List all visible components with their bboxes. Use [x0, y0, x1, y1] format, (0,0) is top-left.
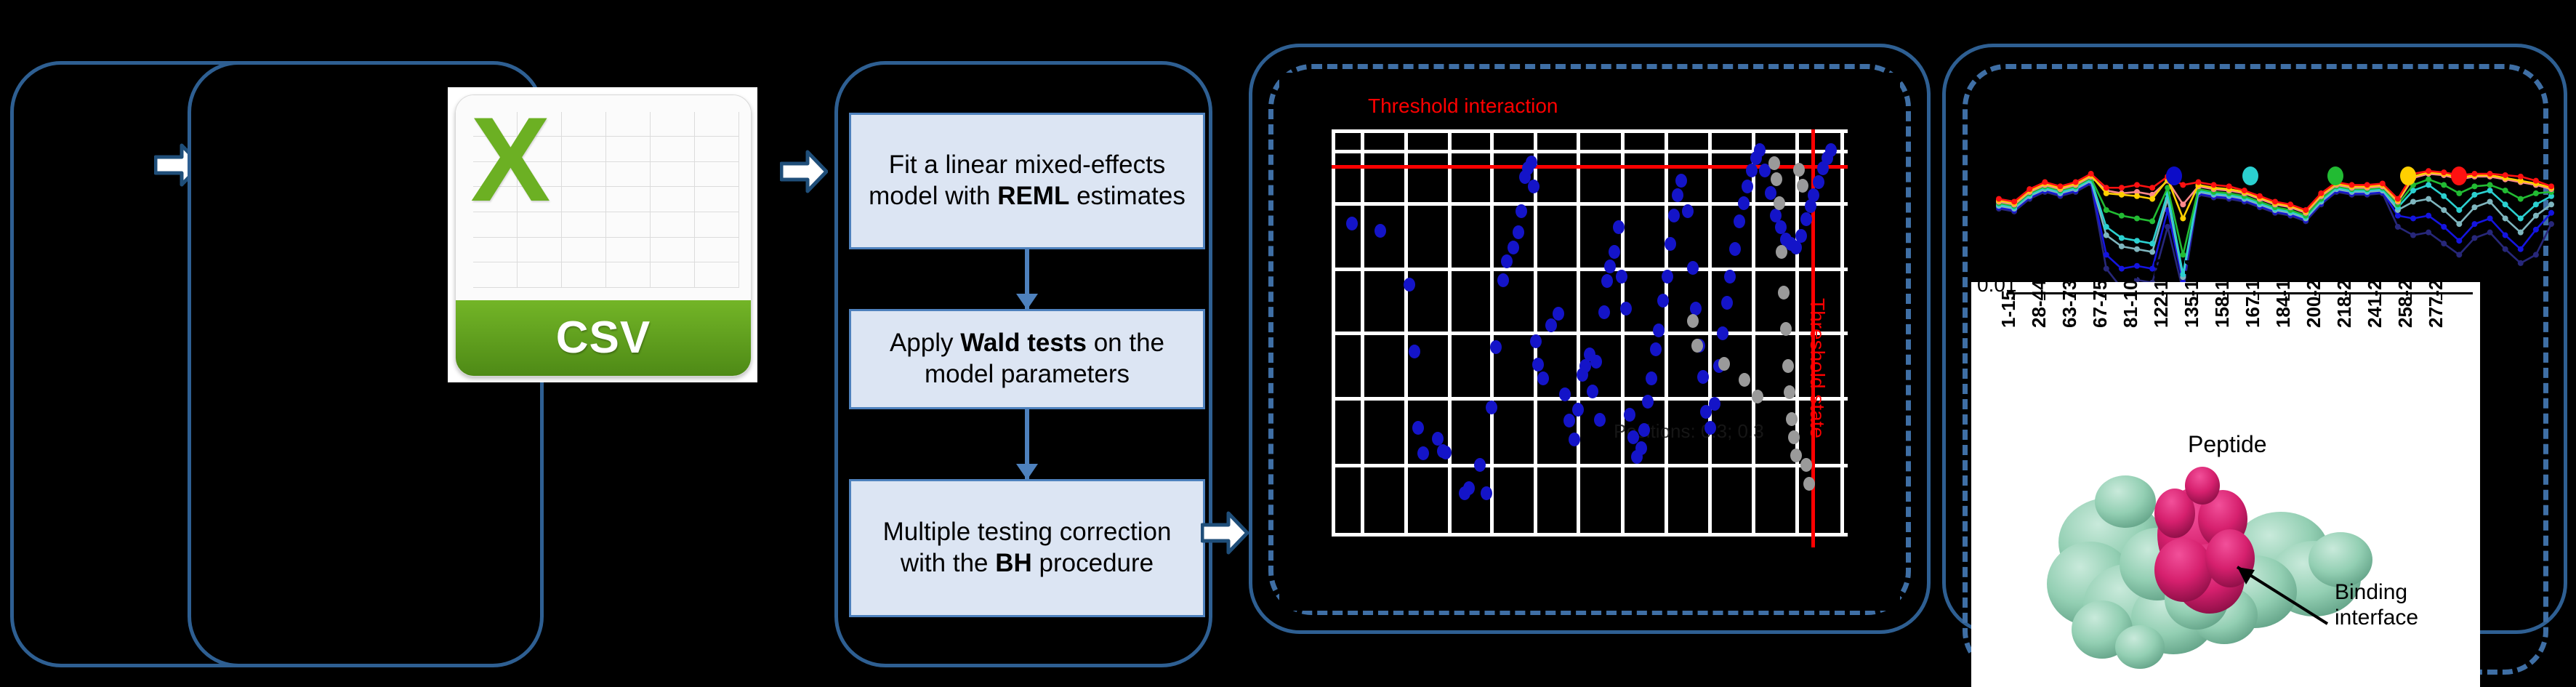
uptake-marker [2119, 213, 2125, 219]
uptake-marker [2119, 192, 2125, 198]
uptake-marker [2104, 266, 2109, 272]
uptake-marker [2503, 188, 2508, 193]
uptake-marker [2548, 210, 2554, 216]
volcano-point [1790, 241, 1802, 254]
x-axis-tick-layer: 1-1528-4463-7367-7581-101122-129135-1441… [1971, 282, 2480, 427]
uptake-marker [2441, 193, 2447, 199]
volcano-point [1613, 220, 1625, 234]
uptake-marker [2533, 201, 2539, 207]
volcano-point [1481, 486, 1492, 500]
uptake-marker [2011, 198, 2017, 204]
uptake-marker [2026, 186, 2032, 192]
binding-interface-line1: Binding [2335, 580, 2407, 604]
uptake-marker [2548, 221, 2554, 227]
uptake-marker [2487, 182, 2493, 188]
volcano-point [1346, 217, 1358, 230]
volcano-point [1825, 143, 1837, 157]
uptake-marker [2456, 238, 2462, 244]
volcano-point [1642, 395, 1654, 409]
x-axis-tick-label: 258-266 [2394, 259, 2417, 328]
uptake-marker [2487, 188, 2493, 193]
uptake-marker [2471, 204, 2477, 210]
volcano-point [1530, 334, 1542, 348]
uptake-marker [2057, 183, 2063, 189]
volcano-point [1624, 408, 1635, 422]
uptake-marker [2104, 190, 2109, 196]
uptake-marker [2349, 182, 2355, 188]
volcano-point [1590, 355, 1602, 369]
uptake-marker [2395, 196, 2401, 202]
uptake-marker [2487, 171, 2493, 177]
uptake-marker [2226, 183, 2232, 189]
uptake-marker [2318, 190, 2324, 196]
uptake-marker [2441, 169, 2447, 175]
volcano-point [1738, 196, 1750, 210]
csv-spreadsheet-surface: X [456, 95, 751, 300]
step-bh-text: Multiple testing correctionwith the BH p… [883, 517, 1172, 579]
uptake-marker [2456, 221, 2462, 227]
uptake-marker [2287, 201, 2293, 207]
uptake-marker [2134, 182, 2140, 188]
volcano-point [1691, 339, 1703, 353]
uptake-marker [2149, 196, 2155, 202]
uptake-marker [2503, 215, 2508, 221]
volcano-point [1687, 261, 1699, 275]
volcano-point [1765, 186, 1776, 200]
volcano-point [1682, 204, 1694, 218]
uptake-marker [2104, 252, 2109, 257]
uptake-marker [2471, 235, 2477, 241]
csv-file-icon: X CSV [448, 87, 757, 382]
uptake-marker [2195, 180, 2201, 185]
uptake-marker [2073, 180, 2079, 185]
uptake-marker [2380, 180, 2386, 186]
binding-interface-line2: interface [2335, 606, 2418, 630]
volcano-point [1513, 225, 1524, 239]
uptake-marker [2242, 188, 2247, 193]
arrow-stats-to-volcano [1201, 510, 1249, 555]
uptake-marker [2487, 215, 2493, 221]
step-model-text: Fit a linear mixed-effects model with RE… [857, 150, 1197, 212]
volcano-point [1734, 214, 1745, 228]
arrow-csv-to-stats [780, 149, 828, 194]
volcano-point [1528, 180, 1539, 193]
volcano-point [1771, 172, 1782, 186]
uptake-marker [2134, 238, 2140, 244]
uptake-marker [2533, 213, 2539, 219]
uptake-marker [2441, 207, 2447, 213]
uptake-marker [2272, 198, 2278, 204]
volcano-point [1672, 188, 1683, 202]
uptake-marker [2104, 207, 2109, 213]
uptake-marker [2533, 178, 2539, 184]
volcano-plot-area: Positions: 0.3; 0.3 [1332, 129, 1848, 537]
volcano-point [1797, 179, 1808, 193]
volcano-point [1440, 446, 1452, 459]
uptake-marker [2441, 224, 2447, 230]
uptake-marker [2149, 241, 2155, 246]
uptake-marker [2503, 246, 2508, 252]
volcano-point [1665, 237, 1676, 251]
peptide-axis-card: 0.01 1-1528-4463-7367-7581-101122-129135… [1971, 282, 2480, 687]
volcano-point [1594, 413, 1606, 427]
volcano-point [1803, 477, 1815, 491]
uptake-marker [2303, 207, 2309, 213]
volcano-point [1717, 326, 1728, 340]
x-axis-tick-label: 63-73 [2058, 280, 2081, 329]
volcano-point [1788, 430, 1800, 444]
volcano-point [1609, 245, 1620, 259]
uptake-marker [2149, 249, 2155, 255]
volcano-point [1668, 209, 1680, 222]
volcano-plot: Threshold interaction Positions: 0.3; 0.… [1279, 73, 1900, 611]
volcano-point [1709, 397, 1720, 411]
uptake-marker [2426, 182, 2431, 188]
x-axis-tick-label: 184-199 [2272, 259, 2295, 328]
volcano-point [1800, 458, 1812, 472]
uptake-marker [2548, 201, 2554, 207]
x-axis-tick-label: 277-284 [2425, 259, 2447, 328]
volcano-point [1778, 286, 1790, 300]
volcano-point [1620, 302, 1632, 316]
uptake-marker [2134, 246, 2140, 252]
uptake-marker [2134, 263, 2140, 269]
volcano-point [1432, 432, 1444, 446]
volcano-point [1650, 342, 1662, 356]
uptake-marker [2180, 252, 2186, 257]
volcano-point [1598, 305, 1610, 319]
uptake-marker [2518, 260, 2524, 266]
x-axis-tick-label: 218-237 [2333, 259, 2356, 328]
threshold-interaction-label: Threshold interaction [1368, 95, 1558, 118]
x-axis-tick-label: 158-166 [2211, 259, 2234, 328]
volcano-point [1704, 421, 1716, 435]
uptake-marker [2456, 252, 2462, 257]
uptake-marker [2503, 172, 2508, 178]
volcano-point [1490, 340, 1502, 354]
volcano-point [1553, 307, 1564, 321]
uptake-marker [2426, 213, 2431, 219]
legend-dot-2 [2242, 166, 2258, 185]
uptake-marker [2503, 233, 2508, 238]
volcano-point [1653, 324, 1665, 337]
uptake-marker [2441, 182, 2447, 188]
csv-icon-body: X CSV [455, 95, 752, 377]
csv-x-glyph: X [470, 100, 550, 220]
volcano-point [1780, 322, 1792, 336]
uptake-marker [2395, 213, 2401, 219]
legend-dot-3 [2327, 166, 2343, 185]
x-axis-tick-label: 122-129 [2150, 259, 2173, 328]
uptake-marker [2471, 192, 2477, 198]
volcano-point [1601, 274, 1613, 288]
volcano-point [1768, 156, 1780, 170]
uptake-marker [2149, 185, 2155, 190]
volcano-point [1516, 204, 1527, 218]
volcano-point [1463, 481, 1475, 495]
uptake-marker [2518, 196, 2524, 202]
volcano-point [1776, 245, 1787, 259]
uptake-marker [2211, 182, 2217, 188]
volcano-point [1790, 449, 1802, 462]
volcano-point [1754, 143, 1766, 157]
volcano-point [1808, 188, 1819, 202]
step-box-bh: Multiple testing correctionwith the BH p… [849, 479, 1205, 617]
step-connector-1 [1025, 249, 1029, 309]
volcano-point [1752, 390, 1763, 403]
uptake-marker [2257, 193, 2263, 199]
uptake-marker [2471, 183, 2477, 189]
volcano-point [1474, 458, 1486, 472]
uptake-marker [1996, 196, 2002, 202]
uptake-marker [2410, 198, 2416, 204]
step-box-model: Fit a linear mixed-effects model with RE… [849, 113, 1205, 249]
volcano-point [1813, 175, 1824, 189]
uptake-marker [2548, 183, 2554, 189]
volcano-point [1739, 373, 1750, 387]
uptake-marker [2487, 198, 2493, 204]
volcano-point [1697, 370, 1709, 384]
x-axis-tick-label: 81-101 [2120, 269, 2142, 328]
legend-dot-5 [2451, 166, 2467, 185]
volcano-point [1501, 254, 1513, 268]
volcano-point [1718, 357, 1730, 371]
x-axis-tick-label: 241-257 [2364, 259, 2386, 328]
uptake-marker [2487, 230, 2493, 236]
uptake-marker [2518, 215, 2524, 221]
volcano-point [1662, 270, 1673, 284]
volcano-point [1657, 294, 1669, 308]
uptake-marker [2426, 196, 2431, 202]
volcano-point [1409, 345, 1420, 358]
threshold-state-label: Threshold state [1806, 298, 1829, 438]
volcano-point [1412, 421, 1424, 435]
uptake-marker [2456, 190, 2462, 196]
uptake-marker [2471, 171, 2477, 177]
csv-format-label: CSV [556, 312, 651, 363]
uptake-marker [2533, 227, 2539, 233]
uptake-marker [2426, 230, 2431, 236]
uptake-marker [2518, 230, 2524, 236]
uptake-marker [2426, 177, 2431, 182]
volcano-point [1587, 385, 1598, 398]
uptake-marker [2410, 233, 2416, 238]
volcano-point [1417, 446, 1429, 460]
volcano-point [1746, 164, 1758, 177]
uptake-marker [2456, 207, 2462, 213]
volcano-point [1537, 371, 1549, 385]
volcano-point [1604, 260, 1616, 273]
volcano-point [1638, 423, 1650, 437]
uptake-marker [2533, 190, 2539, 196]
uptake-marker [2533, 252, 2539, 257]
uptake-marker [2471, 221, 2477, 227]
volcano-point [1404, 278, 1415, 292]
volcano-point [1675, 174, 1687, 188]
volcano-point [1793, 163, 1805, 177]
volcano-point [1508, 241, 1519, 254]
uptake-marker [2503, 201, 2508, 207]
volcano-point [1559, 387, 1571, 401]
uptake-marker [2119, 244, 2125, 249]
uptake-marker [2180, 201, 2186, 207]
x-axis-tick-label: 67-75 [2089, 280, 2112, 329]
uptake-marker [2104, 185, 2109, 190]
legend-dot-1 [2166, 166, 2182, 185]
uptake-marker [2104, 233, 2109, 238]
volcano-point [1729, 242, 1741, 256]
uptake-marker [2104, 224, 2109, 230]
volcano-point [1782, 359, 1794, 373]
volcano-point [1616, 270, 1627, 284]
step-connector-2 [1025, 409, 1029, 479]
volcano-point [1532, 358, 1544, 371]
uptake-marker [2119, 235, 2125, 241]
x-axis-tick-label: 28-44 [2028, 280, 2050, 329]
uptake-marker [2441, 241, 2447, 246]
uptake-marker [2426, 168, 2431, 174]
step-box-wald: Apply Wald tests on the model parameters [849, 309, 1205, 409]
volcano-point [1800, 212, 1812, 226]
uptake-marker [2364, 182, 2370, 188]
protein-svg [2015, 457, 2436, 675]
volcano-point [1786, 412, 1798, 426]
x-axis-title: Peptide [2188, 431, 2267, 458]
csv-format-band: CSV [456, 300, 751, 376]
binding-interface-label: Binding interface [2335, 580, 2418, 630]
volcano-point [1545, 318, 1557, 332]
volcano-point [1687, 314, 1699, 328]
volcano-point [1526, 156, 1537, 169]
uptake-marker [2395, 224, 2401, 230]
volcano-point [1635, 441, 1647, 455]
uptake-marker [2134, 193, 2140, 199]
uptake-marker [2180, 215, 2186, 221]
protein-structure-render [2015, 457, 2436, 675]
x-axis-tick-label: 200-214 [2303, 259, 2325, 328]
volcano-point [1784, 385, 1795, 399]
x-axis-tick-label: 167-180 [2242, 259, 2264, 328]
volcano-point [1646, 371, 1657, 385]
legend-dot-4 [2400, 166, 2416, 185]
uptake-marker [2134, 215, 2140, 221]
volcano-point [1795, 229, 1807, 243]
uptake-marker [2042, 180, 2048, 185]
x-axis-tick-label: 135-144 [2181, 259, 2203, 328]
volcano-point [1724, 270, 1736, 284]
volcano-point [1497, 273, 1509, 287]
volcano-point [1486, 401, 1497, 414]
volcano-point [1774, 196, 1785, 210]
uptake-marker [2088, 171, 2094, 177]
uptake-marker [2180, 182, 2186, 188]
volcano-point [1572, 403, 1584, 417]
volcano-point [1742, 180, 1753, 193]
volcano-point [1374, 224, 1386, 238]
volcano-point [1721, 296, 1733, 310]
ligand-surface [2154, 467, 2255, 614]
step-wald-text: Apply Wald tests on the model parameters [857, 328, 1197, 390]
uptake-marker [2149, 218, 2155, 224]
uptake-marker [2518, 246, 2524, 252]
uptake-marker [2410, 215, 2416, 221]
x-axis-tick-label: 1-15 [1997, 290, 2020, 328]
uptake-marker [2518, 174, 2524, 180]
volcano-point-layer [1332, 129, 1848, 537]
volcano-point [1563, 414, 1575, 427]
uptake-marker [2165, 224, 2170, 230]
volcano-point [1569, 433, 1580, 446]
uptake-marker [2119, 185, 2125, 190]
